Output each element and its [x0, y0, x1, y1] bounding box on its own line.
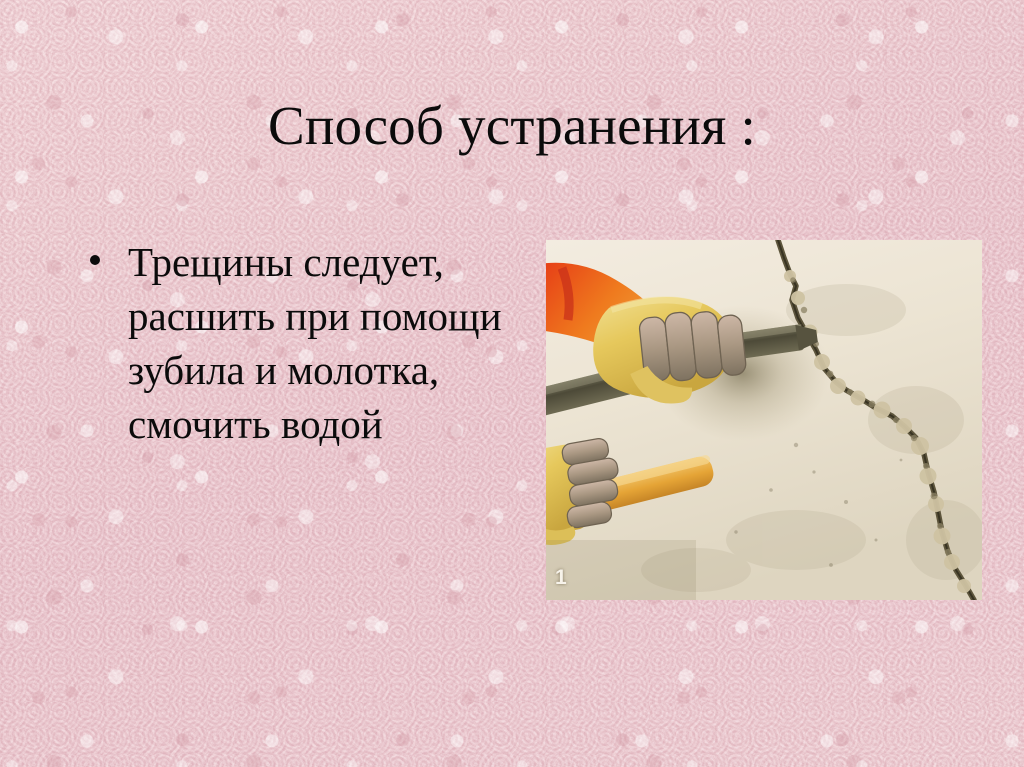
photo-step-number: 1	[555, 567, 567, 588]
illustration-photo: 1	[546, 240, 982, 600]
bullet-list: Трещины следует, расшить при помощи зуби…	[84, 235, 514, 451]
page-title: Способ устранения :	[0, 96, 1024, 156]
photo-artwork	[546, 240, 982, 600]
bullet-dot-icon	[90, 255, 100, 265]
slide-canvas: Способ устранения : Трещины следует, рас…	[0, 0, 1024, 767]
list-item-label: Трещины следует, расшить при помощи зуби…	[128, 239, 502, 447]
list-item: Трещины следует, расшить при помощи зуби…	[84, 235, 514, 451]
